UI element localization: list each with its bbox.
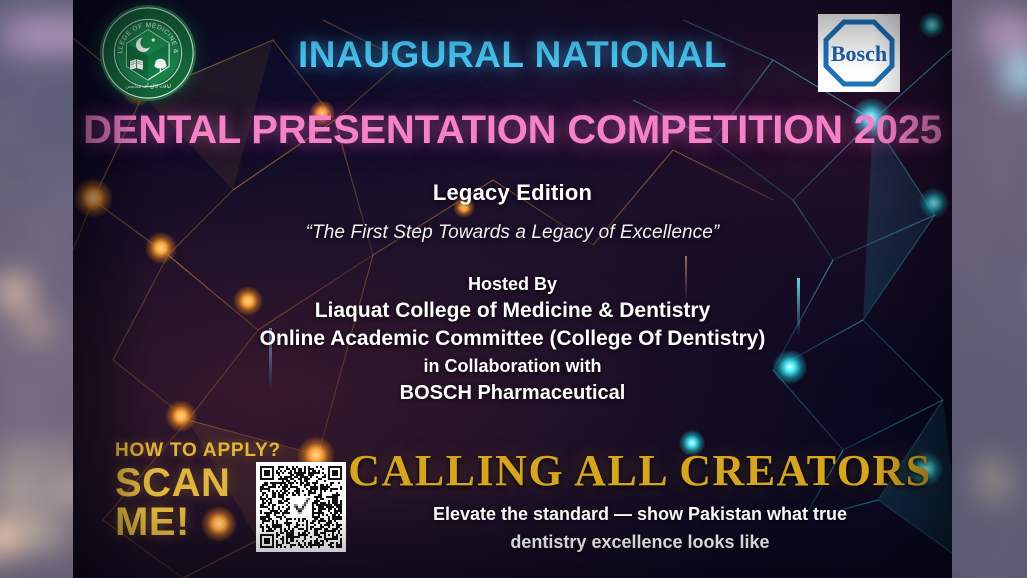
backdrop-fragment-how: HOW TO	[0, 445, 73, 469]
tagline: “The First Step Towards a Legacy of Exce…	[73, 222, 952, 244]
backdrop-right-copy: 25 S	[952, 0, 1027, 578]
backdrop-fragment-de: DENTAL	[4, 10, 73, 63]
host-line-5: BOSCH Pharmaceutical	[73, 379, 952, 407]
scan-me-line-2: ME!	[115, 500, 190, 544]
host-line-2: Liaquat College of Medicine & Dentistry	[73, 297, 952, 325]
creators-sub-line-1: Elevate the standard — show Pakistan wha…	[433, 504, 847, 524]
backdrop-fragment-25: 25	[980, 6, 1027, 63]
poster-main: LIAQUAT COLLEGE OF MEDICINE & DENTISTRY …	[73, 0, 952, 578]
backdrop-fragment-s: S	[978, 449, 1009, 512]
backdrop-left-copy: DENTAL HOW TO SCANME!	[0, 0, 73, 578]
host-line-1: Hosted By	[73, 272, 952, 297]
creators-headline: CALLING ALL CREATORS	[328, 445, 952, 496]
apply-block: HOW TO APPLY? SCAN ME!	[115, 440, 315, 542]
scan-me-line-1: SCAN	[115, 461, 230, 505]
poster-image: DENTAL HOW TO SCANME! 25 S	[0, 0, 1027, 578]
title-line-1: INAUGURAL NATIONAL	[73, 34, 952, 76]
backdrop-fragment-scan: SCANME!	[0, 470, 73, 555]
how-to-apply-heading: HOW TO APPLY?	[115, 440, 315, 462]
host-line-3: Online Academic Committee (College Of De…	[73, 325, 952, 353]
host-line-4: in Collaboration with	[73, 353, 952, 379]
creators-subtext: Elevate the standard — show Pakistan wha…	[328, 500, 952, 556]
creators-sub-line-2: dentistry excellence looks like	[510, 532, 769, 552]
host-block: Hosted By Liaquat College of Medicine & …	[73, 272, 952, 407]
backdrop-blur-left: DENTAL HOW TO SCANME!	[0, 0, 73, 578]
edition-label: Legacy Edition	[73, 180, 952, 206]
backdrop-blur-right: 25 S	[952, 0, 1027, 578]
title-line-2: DENTAL PRESENTATION COMPETITION 2025	[73, 108, 952, 153]
